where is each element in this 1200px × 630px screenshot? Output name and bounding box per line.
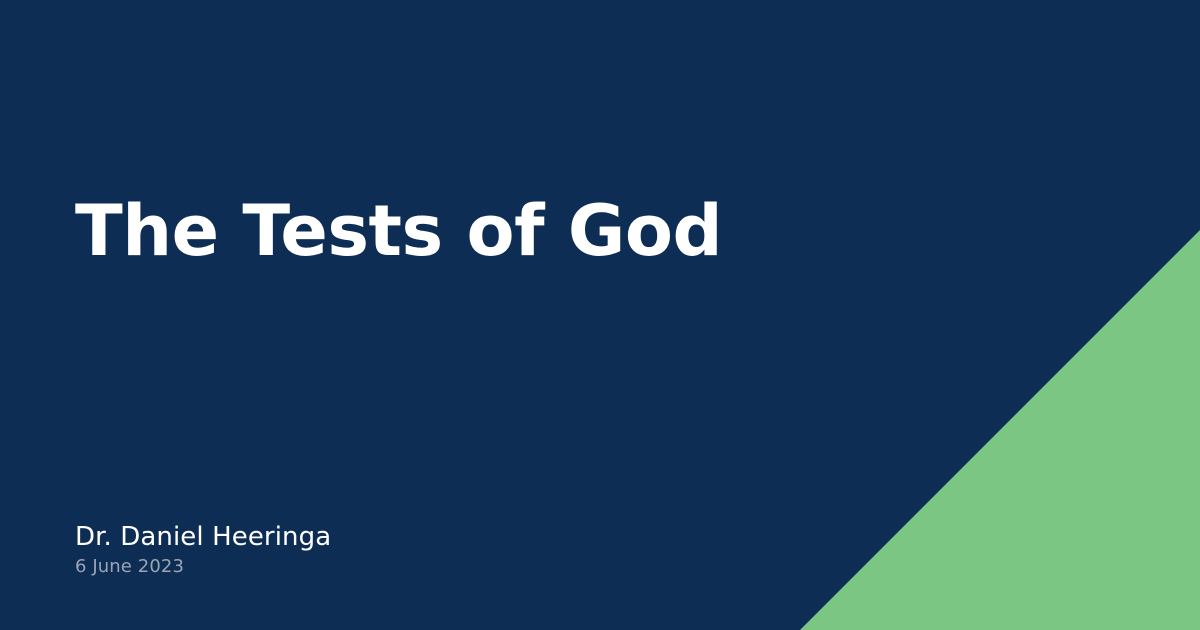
title-block: The Tests of God (75, 196, 722, 266)
slide-date: 6 June 2023 (75, 556, 331, 578)
corner-triangle-decoration (800, 230, 1200, 630)
author-name: Dr. Daniel Heeringa (75, 522, 331, 552)
page-title: The Tests of God (75, 196, 722, 266)
title-slide: The Tests of God Dr. Daniel Heeringa 6 J… (0, 0, 1200, 630)
byline-block: Dr. Daniel Heeringa 6 June 2023 (75, 522, 331, 578)
green-triangle-shape (800, 230, 1200, 630)
